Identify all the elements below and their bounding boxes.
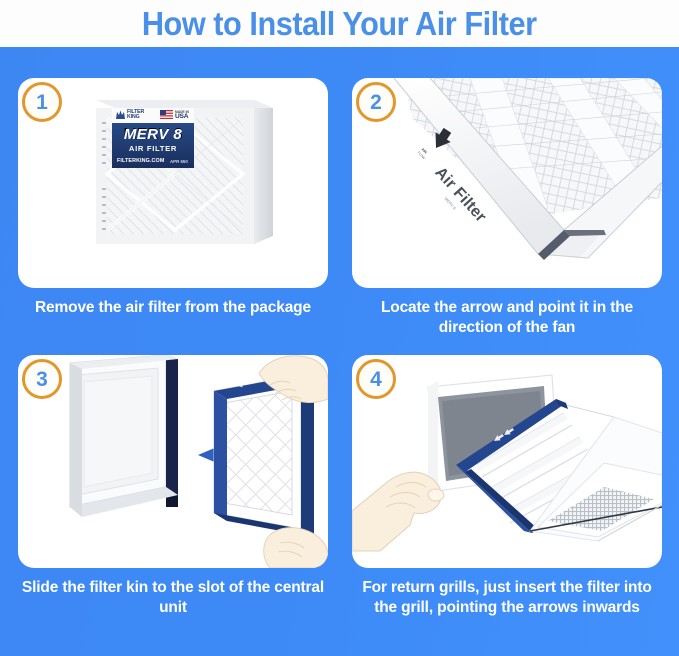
- step-4-panel: 4: [352, 355, 662, 568]
- usa-flag-icon: [160, 110, 173, 119]
- infographic-page: How to Install Your Air Filter: [0, 0, 679, 656]
- step-caption-2: Locate the arrow and point it in the dir…: [352, 298, 662, 338]
- air-filter-subtitle: AIR FILTER: [112, 144, 194, 153]
- step-card-4: 4 For return grills, just insert the fil…: [352, 355, 662, 618]
- crown-icon: [116, 110, 125, 120]
- step-caption-1: Remove the air filter from the package: [18, 298, 328, 318]
- step-number-badge-2: 2: [356, 82, 396, 122]
- step-1-artwork: FILTER KING MADE IN: [18, 78, 328, 288]
- made-in-usa-badge: MADE IN USA: [160, 110, 189, 119]
- step-number-2: 2: [370, 92, 382, 113]
- step-card-3: 3 Slide the filter kin to the slot of th…: [18, 355, 328, 618]
- step-2-artwork: AIR FLOW Air Filter MERV 8: [352, 78, 662, 288]
- step-4-artwork: [352, 355, 662, 568]
- page-title: How to Install Your Air Filter: [142, 7, 537, 41]
- usa-text: USA: [175, 115, 189, 119]
- hand-bottom: [264, 528, 328, 568]
- website-text: FILTERKING.COM: [117, 158, 164, 164]
- step-caption-4: For return grills, just insert the filte…: [352, 578, 662, 618]
- step-2-panel: AIR FLOW Air Filter MERV 8 2: [352, 78, 662, 288]
- hand-holding-grill: [352, 472, 444, 551]
- step-number-4: 4: [370, 369, 382, 390]
- step-card-2: AIR FLOW Air Filter MERV 8 2 Locate the …: [352, 78, 662, 338]
- step-3-artwork: [18, 355, 328, 568]
- header-band: How to Install Your Air Filter: [0, 0, 679, 47]
- merv-title: MERV 8: [112, 126, 194, 143]
- step-number-1: 1: [36, 92, 48, 113]
- step-1-panel: FILTER KING MADE IN: [18, 78, 328, 288]
- brand-line-2: KING: [127, 115, 144, 120]
- step-number-badge-4: 4: [356, 359, 396, 399]
- step-card-1: FILTER KING MADE IN: [18, 78, 328, 318]
- step-3-panel: 3: [18, 355, 328, 568]
- step-caption-3: Slide the filter kin to the slot of the …: [18, 578, 328, 618]
- step-number-badge-3: 3: [22, 359, 62, 399]
- apr-rating-text: APR 650: [170, 159, 188, 164]
- brand-logo: FILTER KING: [116, 110, 150, 120]
- step-number-3: 3: [36, 369, 48, 390]
- step-number-badge-1: 1: [22, 82, 62, 122]
